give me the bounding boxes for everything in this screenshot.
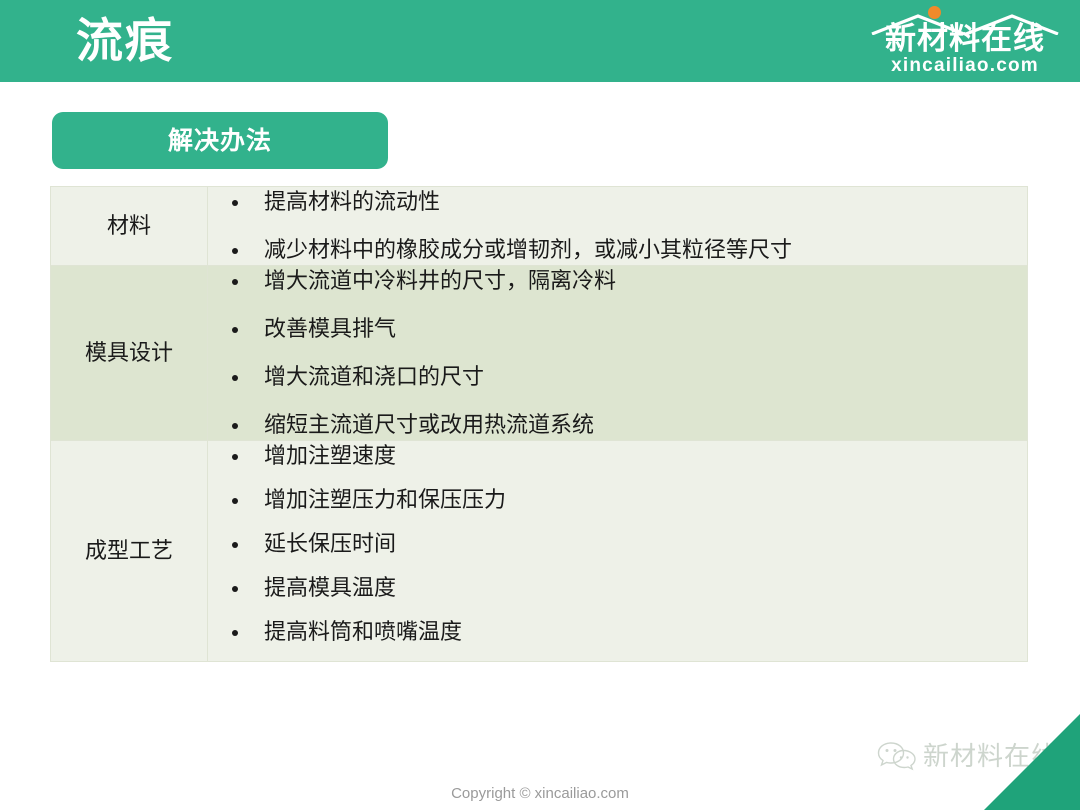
list-item: 提高料筒和喷嘴温度 (208, 617, 1027, 647)
brand-url: xincailiao.com (864, 55, 1066, 77)
solutions-table: 材料 提高材料的流动性 减少材料中的橡胶成分或增韧剂，或减小其粒径等尺寸 模具设… (50, 186, 1028, 662)
slide: 流痕 新材料在线 xincailiao.com 解决办法 材料 提高材料的流动性… (0, 0, 1080, 810)
table-row: 成型工艺 增加注塑速度 增加注塑压力和保压压力 延长保压时间 提高模具温度 提高… (51, 441, 1028, 662)
page-title: 流痕 (76, 12, 174, 70)
table-row: 材料 提高材料的流动性 减少材料中的橡胶成分或增韧剂，或减小其粒径等尺寸 (51, 187, 1028, 266)
wechat-icon (877, 740, 917, 772)
row-category: 材料 (51, 187, 208, 266)
bullet-list: 提高材料的流动性 减少材料中的橡胶成分或增韧剂，或减小其粒径等尺寸 (208, 187, 1027, 265)
brand-accent-dot-icon (928, 6, 941, 19)
list-item: 提高模具温度 (208, 573, 1027, 603)
list-item: 增大流道和浇口的尺寸 (208, 362, 1027, 392)
section-badge: 解决办法 (52, 112, 388, 169)
list-item: 延长保压时间 (208, 529, 1027, 559)
bullet-list: 增大流道中冷料井的尺寸，隔离冷料 改善模具排气 增大流道和浇口的尺寸 缩短主流道… (208, 266, 1027, 440)
section-badge-label: 解决办法 (168, 126, 272, 156)
corner-triangle-decoration (984, 714, 1080, 810)
list-item: 减少材料中的橡胶成分或增韧剂，或减小其粒径等尺寸 (208, 235, 1027, 265)
bullet-list: 增加注塑速度 增加注塑压力和保压压力 延长保压时间 提高模具温度 提高料筒和喷嘴… (208, 441, 1027, 647)
footer-copyright: Copyright © xincailiao.com (0, 784, 1080, 804)
row-items: 提高材料的流动性 减少材料中的橡胶成分或增韧剂，或减小其粒径等尺寸 (208, 187, 1028, 266)
row-items: 增加注塑速度 增加注塑压力和保压压力 延长保压时间 提高模具温度 提高料筒和喷嘴… (208, 441, 1028, 662)
row-category: 模具设计 (51, 266, 208, 441)
row-category: 成型工艺 (51, 441, 208, 662)
brand-logo: 新材料在线 xincailiao.com (852, 5, 1066, 79)
list-item: 缩短主流道尺寸或改用热流道系统 (208, 410, 1027, 440)
brand-name: 新材料在线 (864, 21, 1066, 57)
list-item: 提高材料的流动性 (208, 187, 1027, 217)
list-item: 增加注塑速度 (208, 441, 1027, 471)
row-items: 增大流道中冷料井的尺寸，隔离冷料 改善模具排气 增大流道和浇口的尺寸 缩短主流道… (208, 266, 1028, 441)
table-row: 模具设计 增大流道中冷料井的尺寸，隔离冷料 改善模具排气 增大流道和浇口的尺寸 … (51, 266, 1028, 441)
list-item: 增加注塑压力和保压压力 (208, 485, 1027, 515)
list-item: 改善模具排气 (208, 314, 1027, 344)
list-item: 增大流道中冷料井的尺寸，隔离冷料 (208, 266, 1027, 296)
